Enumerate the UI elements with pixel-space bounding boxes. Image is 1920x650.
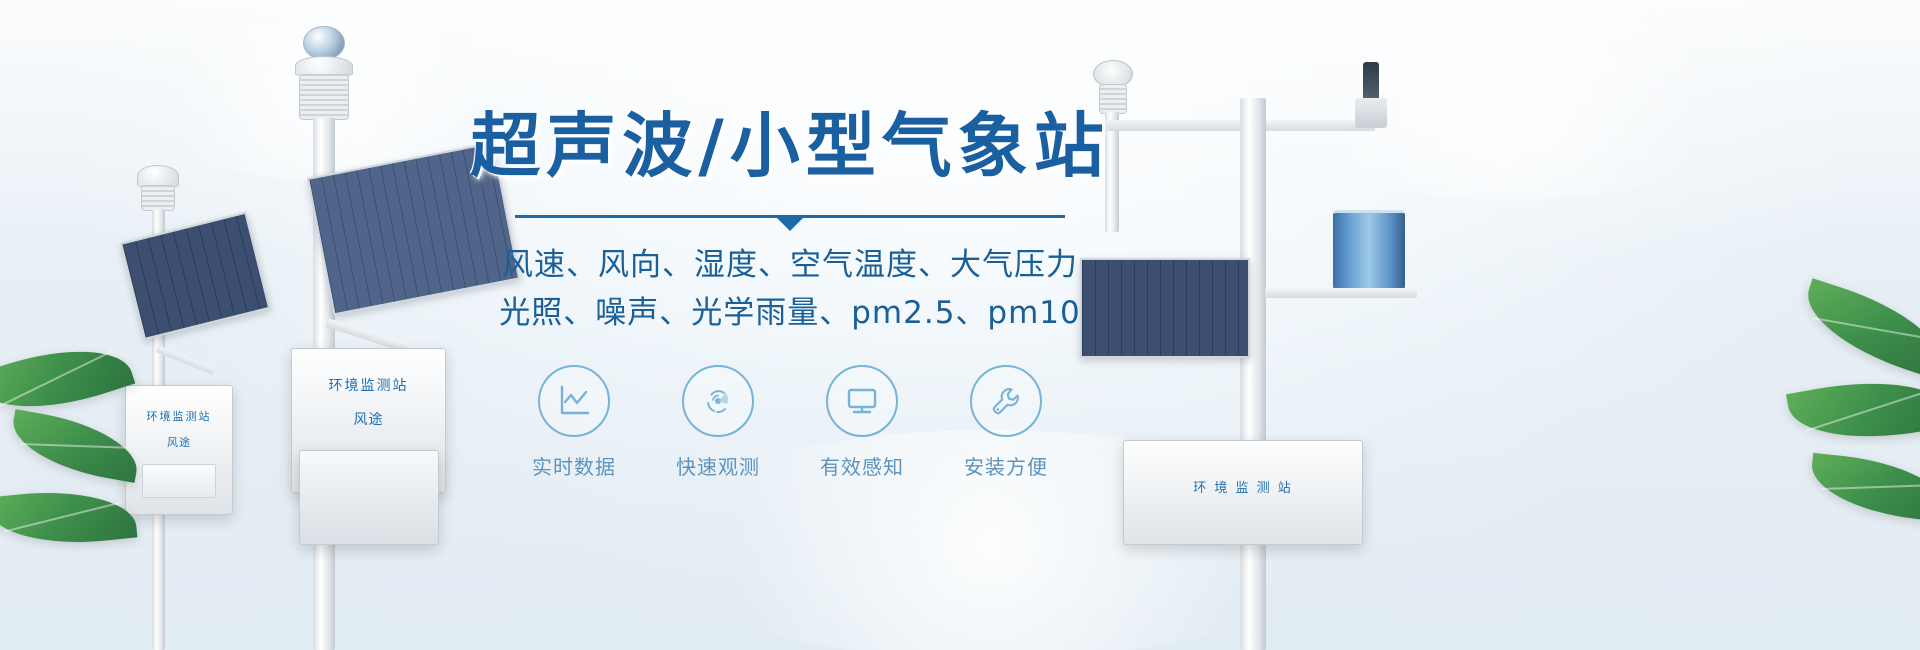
sensor-stack bbox=[141, 185, 175, 211]
subtitle-line-1: 风速、风向、湿度、空气温度、大气压力 bbox=[440, 241, 1140, 289]
triangle-down-icon bbox=[777, 218, 803, 231]
rain-gauge bbox=[1333, 210, 1405, 290]
vane-mount bbox=[1355, 98, 1387, 128]
leaf-decoration bbox=[1795, 278, 1920, 380]
wrench-icon bbox=[987, 382, 1025, 420]
sky-dome-sensor-icon bbox=[303, 26, 345, 60]
title-divider bbox=[440, 209, 1140, 227]
station-mast bbox=[1240, 98, 1266, 650]
page-title: 超声波/小型气象站 bbox=[440, 108, 1140, 185]
banner-content: 超声波/小型气象站 风速、风向、湿度、空气温度、大气压力 光照、噪声、光学雨量、… bbox=[440, 108, 1140, 480]
feature-item-fast-observation[interactable]: 快速观测 bbox=[668, 365, 768, 480]
subtitle-line-2: 光照、噪声、光学雨量、pm2.5、pm10 bbox=[440, 289, 1140, 337]
feature-icon-circle bbox=[826, 365, 898, 437]
ultrasonic-sensor-icon bbox=[137, 165, 179, 187]
wind-vane-icon bbox=[1363, 62, 1379, 102]
feature-icon-circle bbox=[538, 365, 610, 437]
line-chart-icon bbox=[555, 382, 593, 420]
feature-label: 安装方便 bbox=[956, 451, 1056, 480]
feature-item-easy-install[interactable]: 安装方便 bbox=[956, 365, 1056, 480]
radiation-shield-cap bbox=[295, 56, 353, 76]
feature-item-effective-sensing[interactable]: 有效感知 bbox=[812, 365, 912, 480]
radar-signal-icon bbox=[699, 382, 737, 420]
cabinet-label: 环 境 监 测 站 bbox=[1124, 477, 1362, 496]
cabinet-label: 环境监测站 bbox=[292, 375, 445, 395]
feature-label: 快速观测 bbox=[668, 451, 768, 480]
gauge-support-arm bbox=[1265, 288, 1417, 298]
cabinet-brand: 风途 bbox=[126, 434, 232, 450]
leaf-decoration bbox=[1786, 367, 1920, 454]
feature-item-realtime-data[interactable]: 实时数据 bbox=[524, 365, 624, 480]
feature-icon-circle bbox=[682, 365, 754, 437]
radiation-shield bbox=[299, 74, 349, 120]
feature-list: 实时数据 快速观测 bbox=[440, 365, 1140, 480]
monitor-icon bbox=[843, 382, 881, 420]
feature-label: 实时数据 bbox=[524, 451, 624, 480]
station-cabinet-right: 环 境 监 测 站 bbox=[1123, 440, 1363, 545]
cabinet-vent bbox=[142, 464, 216, 498]
feature-icon-circle bbox=[970, 365, 1042, 437]
station-cabinet-lower bbox=[299, 450, 439, 545]
product-banner: 环境监测站 风途 环境监测站 风途 环 境 监 测 站 bbox=[0, 0, 1920, 650]
cabinet-label: 环境监测站 bbox=[126, 408, 232, 424]
station-cabinet-left: 环境监测站 风途 bbox=[125, 385, 233, 515]
cabinet-brand: 风途 bbox=[292, 409, 445, 429]
leaf-decoration bbox=[1808, 453, 1920, 522]
feature-label: 有效感知 bbox=[812, 451, 912, 480]
solar-panel bbox=[120, 212, 270, 340]
